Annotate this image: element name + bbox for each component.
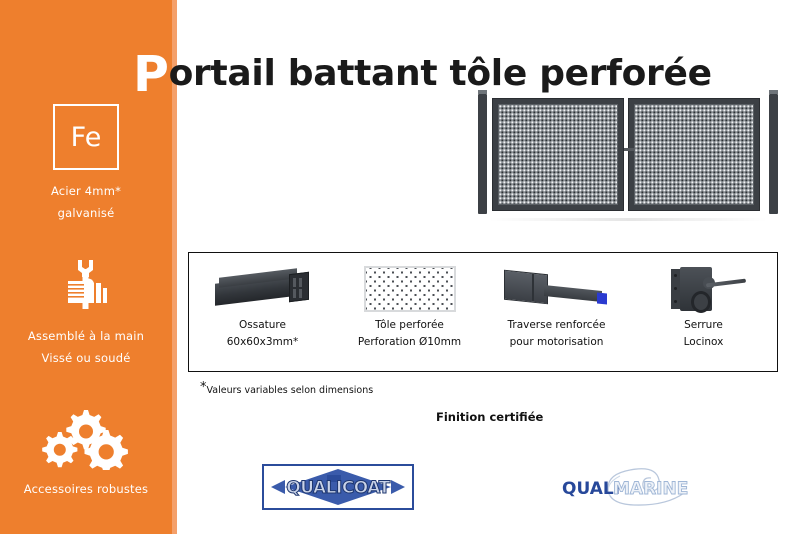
gears-icon bbox=[0, 408, 172, 470]
svg-text:MARINE: MARINE bbox=[613, 479, 688, 499]
certification-heading: Finition certifiée bbox=[436, 410, 543, 424]
gate-post-right bbox=[769, 94, 778, 214]
gate-leaf-right bbox=[628, 98, 760, 211]
feature-traverse-line2: pour motorisation bbox=[510, 334, 604, 351]
svg-text:QUALI: QUALI bbox=[562, 479, 620, 499]
lock-icon bbox=[661, 261, 747, 317]
features-panel: Ossature 60x60x3mm* Tôle perforée Perfor… bbox=[188, 252, 778, 372]
gate-post-right-cap bbox=[769, 90, 778, 94]
reinforced-crossbar-icon bbox=[502, 261, 612, 317]
gate-illustration: Portail battant 2 vantaux en tôle perfor… bbox=[478, 90, 778, 222]
svg-text:QUALICOAT: QUALICOAT bbox=[286, 478, 390, 498]
page-title-rest: ortail battant tôle perforée bbox=[169, 53, 712, 94]
gate-shadow bbox=[488, 218, 768, 221]
feature-traverse: Traverse renforcée pour motorisation bbox=[483, 253, 630, 371]
fe-element-box-icon: Fe bbox=[53, 104, 119, 170]
feature-tole-line1: Tôle perforée bbox=[375, 317, 444, 334]
perforated-infill-left bbox=[498, 104, 618, 205]
footnote-text: Valeurs variables selon dimensions bbox=[207, 385, 374, 396]
feature-serrure-line1: Serrure bbox=[684, 317, 723, 334]
feature-serrure: Serrure Locinox bbox=[630, 253, 777, 371]
gate-leaf-left bbox=[492, 98, 624, 211]
sidebar-item-accessories-line1: Accessoires robustes bbox=[0, 478, 172, 500]
perforated-sheet-icon bbox=[364, 261, 456, 317]
datasheet-page: Fe Acier 4mm* galvanisé bbox=[0, 0, 800, 534]
sidebar-item-accessories: Accessoires robustes bbox=[0, 408, 172, 500]
sidebar-item-steel-line2: galvanisé bbox=[0, 202, 172, 224]
wrench-hand-icon bbox=[0, 255, 172, 317]
sidebar-item-assembly-line1: Assemblé à la main bbox=[0, 325, 172, 347]
feature-ossature-line1: Ossature bbox=[239, 317, 286, 334]
steel-profile-icon bbox=[215, 261, 311, 317]
sidebar-item-assembly-line2: Vissé ou soudé bbox=[0, 347, 172, 369]
feature-tole-perforee: Tôle perforée Perforation Ø10mm bbox=[336, 253, 483, 371]
perforated-infill-right bbox=[634, 104, 754, 205]
feature-ossature-line2: 60x60x3mm* bbox=[227, 334, 299, 351]
sidebar-item-assembly: Assemblé à la main Vissé ou soudé bbox=[0, 255, 172, 369]
qualimarine-logo-text-primary: QUALI bbox=[710, 466, 711, 467]
qualimarine-logo-text-secondary: MARINE bbox=[710, 466, 711, 467]
fe-badge-text: Fe bbox=[71, 124, 102, 151]
feature-traverse-line1: Traverse renforcée bbox=[508, 317, 606, 334]
qualicoat-logo: QUALICOAT QUALICOAT bbox=[262, 464, 414, 510]
gate-post-left-cap bbox=[478, 90, 487, 94]
page-title-initial: P bbox=[133, 46, 169, 103]
feature-tole-line2: Perforation Ø10mm bbox=[358, 334, 461, 351]
feature-serrure-line2: Locinox bbox=[684, 334, 724, 351]
sidebar-item-steel: Fe Acier 4mm* galvanisé bbox=[0, 104, 172, 224]
footnote: *Valeurs variables selon dimensions bbox=[200, 380, 373, 396]
qualimarine-logo: QUALI MARINE QUALI MARINE bbox=[560, 466, 710, 510]
sidebar-item-steel-line1: Acier 4mm* bbox=[0, 180, 172, 202]
gate-handle-icon bbox=[624, 148, 634, 151]
gate-post-left bbox=[478, 94, 487, 214]
feature-ossature: Ossature 60x60x3mm* bbox=[189, 253, 336, 371]
